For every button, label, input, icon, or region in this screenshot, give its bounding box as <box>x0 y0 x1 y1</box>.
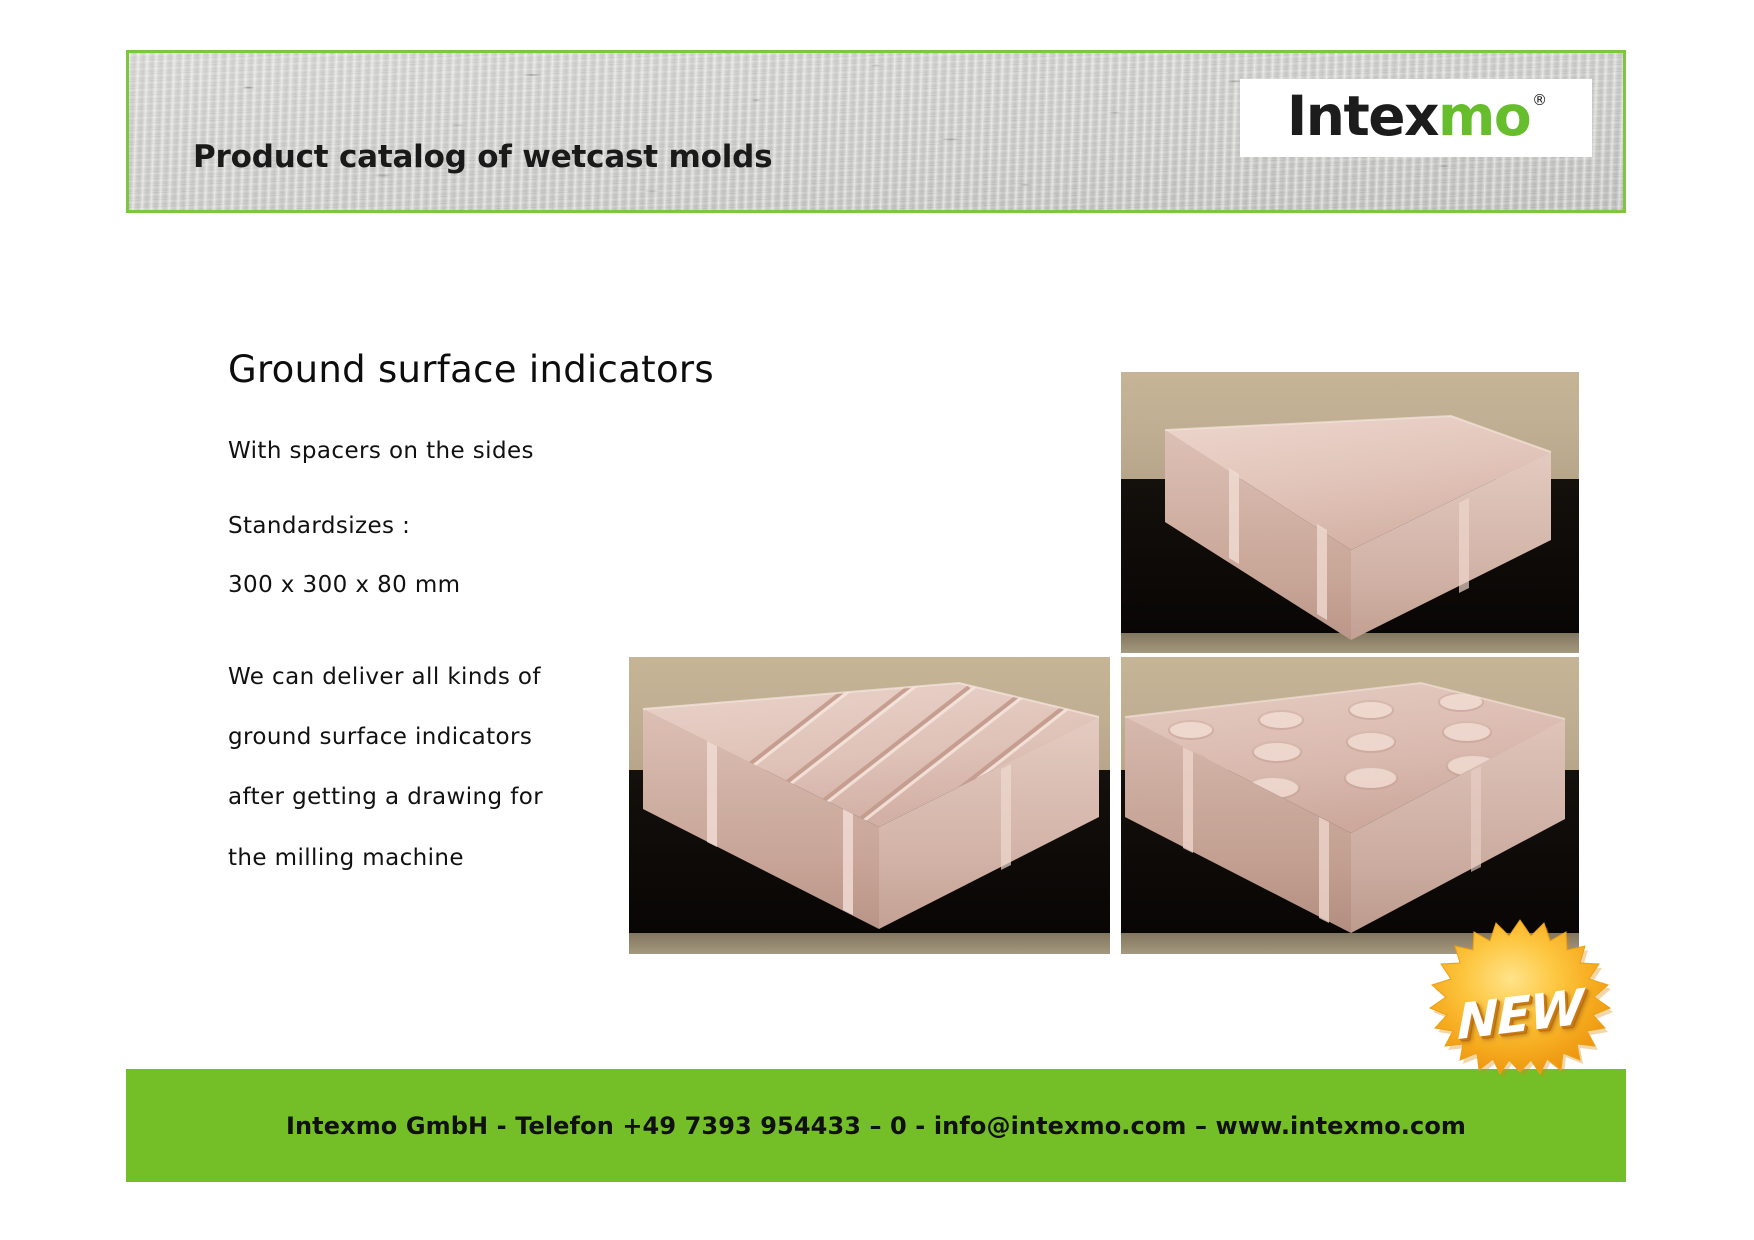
description-line-4: the milling machine <box>228 845 464 871</box>
description-line-1: We can deliver all kinds of <box>228 664 541 690</box>
mold-illustration-plain <box>1121 372 1579 653</box>
description-line-3: after getting a drawing for <box>228 784 543 810</box>
footer-bar: Intexmo GmbH - Telefon +49 7393 954433 –… <box>126 1069 1626 1182</box>
section-heading: Ground surface indicators <box>228 348 714 391</box>
logo-text-dark: Intex <box>1287 84 1438 148</box>
logo-wordmark: Intexmo® <box>1287 89 1545 144</box>
mold-illustration-blister <box>1121 657 1579 954</box>
standard-sizes-label: Standardsizes : <box>228 513 410 539</box>
logo-text-green: mo <box>1438 84 1530 148</box>
registered-trademark-icon: ® <box>1532 91 1547 109</box>
description-line-2: ground surface indicators <box>228 724 532 750</box>
starburst-icon <box>1418 916 1622 1116</box>
product-photo-plain-mold <box>1121 372 1579 653</box>
subtitle-text: With spacers on the sides <box>228 438 534 464</box>
catalog-page: Product catalog of wetcast molds Intexmo… <box>0 0 1754 1240</box>
page-title: Product catalog of wetcast molds <box>193 139 772 175</box>
intexmo-logo: Intexmo® <box>1240 79 1592 157</box>
standard-size-value: 300 x 300 x 80 mm <box>228 572 460 598</box>
mold-illustration-ribbed <box>629 657 1110 954</box>
new-badge: NEW <box>1418 916 1622 1116</box>
product-photo-ribbed-mold <box>629 657 1110 954</box>
product-photo-blister-mold <box>1121 657 1579 954</box>
footer-contact-text: Intexmo GmbH - Telefon +49 7393 954433 –… <box>126 1112 1626 1140</box>
header-banner: Product catalog of wetcast molds Intexmo… <box>126 50 1626 213</box>
